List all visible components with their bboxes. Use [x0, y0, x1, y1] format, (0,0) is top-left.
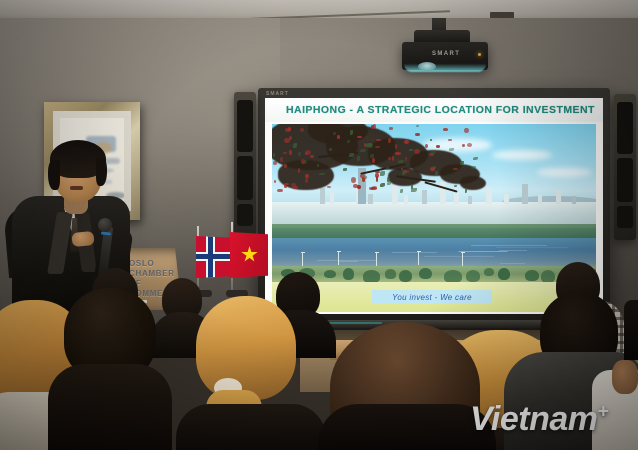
logo-line-2: CHAMBER	[129, 269, 182, 279]
branch-leaf	[387, 182, 391, 186]
wall-speaker-left: SMART	[234, 92, 256, 242]
branch-leaf	[387, 177, 389, 182]
blossom-petal	[274, 180, 276, 183]
speaker-grille-mid-r	[617, 158, 633, 202]
conference-presentation-photo: SMART HAIPHONG - A STRATEGIC LOCATION FO…	[0, 0, 638, 450]
shore-tree	[466, 270, 481, 282]
skyline-building	[556, 190, 561, 204]
branch-leaf	[402, 170, 405, 175]
branch-leaf	[460, 161, 464, 165]
shore-tree	[484, 268, 494, 275]
blossom-petal	[288, 127, 292, 131]
shore-tree	[343, 268, 354, 279]
blossom-petal	[448, 139, 452, 141]
skyline-building	[468, 196, 472, 204]
blossom-petal	[414, 149, 419, 154]
shore-tree	[385, 269, 396, 278]
audience-shoulders-ponytail	[176, 404, 326, 450]
vietnam-flag-star-icon	[241, 246, 258, 263]
branch-leaf	[350, 130, 353, 135]
street-lamp-head	[461, 252, 465, 253]
presenter-mouth	[70, 186, 83, 190]
blossom-petal	[289, 150, 292, 155]
shore-tree	[419, 268, 432, 280]
projector-light-glow	[404, 64, 486, 72]
blossom-petal	[369, 187, 374, 190]
shore-tree	[324, 270, 336, 278]
river-shimmer	[458, 251, 508, 252]
street-lamp-head	[337, 251, 341, 252]
speaker-grille-upper	[237, 100, 253, 152]
street-lamp	[302, 252, 303, 266]
blossom-petal	[310, 155, 313, 159]
branch-leaf	[343, 168, 347, 170]
branch-leaf	[400, 189, 404, 193]
blossom-petal	[371, 125, 374, 129]
norway-flag-blue-horizontal	[196, 254, 230, 259]
street-lamp	[462, 252, 463, 266]
speaker-grille-lower-r	[617, 206, 633, 228]
skyline-building	[522, 184, 528, 204]
river-shimmer	[499, 250, 527, 251]
branch-leaf	[454, 185, 457, 187]
branch-leaf	[386, 167, 389, 170]
slide-title-bar: HAIPHONG - A STRATEGIC LOCATION FOR INVE…	[265, 98, 603, 122]
skyline-building	[422, 190, 427, 204]
street-lamp	[418, 251, 419, 265]
flowering-branch	[460, 176, 486, 190]
river-shimmer	[317, 260, 377, 261]
sky-cloud	[492, 150, 552, 160]
street-lamp	[376, 252, 377, 266]
blossom-petal	[415, 133, 421, 136]
blossom-petal	[337, 135, 340, 138]
skyline-building	[404, 195, 408, 204]
projector-brand-label: SMART	[432, 51, 460, 57]
blossom-petal	[395, 152, 401, 154]
blossom-petal	[389, 127, 394, 129]
river	[272, 238, 596, 268]
branch-leaf	[366, 143, 372, 147]
river-shimmer	[496, 247, 568, 248]
river-shimmer	[500, 263, 526, 264]
shore-tree	[399, 270, 412, 282]
blossom-petal	[300, 128, 303, 132]
presenter-hair-side-right	[96, 158, 107, 186]
blossom-petal	[376, 139, 381, 141]
branch-leaf	[380, 171, 385, 175]
blossom-petal	[388, 157, 391, 160]
skyline-building	[486, 187, 492, 204]
blossom-petal	[375, 173, 380, 178]
street-lamp-head	[417, 251, 421, 252]
street-lamp-head	[301, 252, 305, 253]
blossom-petal	[273, 161, 277, 165]
sky-cloud	[537, 168, 592, 177]
blossom-petal	[280, 157, 283, 162]
skyline-building	[572, 196, 576, 204]
blossom-petal	[284, 183, 289, 185]
blossom-petal	[327, 186, 331, 188]
branch-leaf	[473, 157, 478, 160]
skyline-building	[330, 192, 334, 204]
blossom-petal	[277, 189, 282, 193]
branch-leaf	[398, 160, 404, 163]
skyline-building	[320, 188, 325, 204]
audience-edge-figure	[624, 300, 638, 360]
norway-flag	[196, 236, 230, 278]
blossom-petal	[436, 145, 439, 148]
branch-leaf	[329, 148, 331, 151]
blossom-petal	[284, 164, 287, 168]
shore-tree	[525, 270, 539, 281]
logo-line-1: OSLO	[129, 259, 182, 269]
skyline-building	[504, 194, 509, 204]
blossom-petal	[284, 185, 287, 188]
vietnam-flag	[230, 232, 268, 278]
blossom-petal	[375, 171, 379, 173]
audience-head-ponytail	[196, 296, 296, 400]
branch-leaf	[380, 183, 385, 187]
branch-leaf	[465, 188, 467, 193]
blossom-petal	[284, 138, 290, 143]
vietnam-plus-watermark: Vietnam+	[470, 400, 609, 439]
projector-status-led-icon	[478, 53, 481, 56]
presenter-hand-left	[71, 231, 94, 247]
shore-tree	[541, 270, 555, 282]
branch-leaf	[416, 125, 418, 127]
skyline-building	[368, 194, 373, 204]
blossom-petal	[291, 183, 295, 187]
blossom-petal	[388, 138, 391, 142]
blossom-petal	[425, 144, 428, 148]
slide-photo-cityscape	[272, 124, 596, 282]
skyline-building	[454, 193, 459, 204]
river-shimmer	[424, 256, 494, 257]
audience-face-far-right	[612, 360, 638, 394]
presenter-hair-side-left	[48, 160, 60, 190]
shore-tree	[363, 270, 381, 282]
blossom-petal	[443, 128, 448, 131]
blossom-petal	[351, 177, 356, 182]
shore-tree	[444, 270, 462, 282]
blossom-petal	[464, 128, 468, 133]
projector-lens-icon	[418, 62, 436, 71]
near-shore	[272, 266, 596, 282]
audience-shoulders-dark-left	[48, 364, 172, 450]
branch-leaf	[298, 152, 301, 156]
branch-leaf	[317, 164, 320, 166]
branch-leaf	[273, 153, 275, 157]
speaker-grille-lower	[237, 204, 253, 226]
skyline-building	[538, 195, 542, 204]
watermark-text: Vietnam	[470, 400, 598, 438]
board-brand-label: SMART	[266, 91, 289, 97]
speaker-grille-mid	[237, 156, 253, 200]
wall-speaker-right	[614, 94, 636, 240]
blossom-petal	[404, 140, 409, 144]
speaker-grille-upper-r	[617, 102, 633, 154]
street-lamp-head	[375, 252, 379, 253]
slide-title: HAIPHONG - A STRATEGIC LOCATION FOR INVE…	[286, 104, 595, 116]
skyline-building	[392, 186, 398, 204]
watermark-plus: +	[598, 401, 609, 423]
street-lamp	[338, 251, 339, 265]
river-shimmer	[392, 252, 437, 253]
